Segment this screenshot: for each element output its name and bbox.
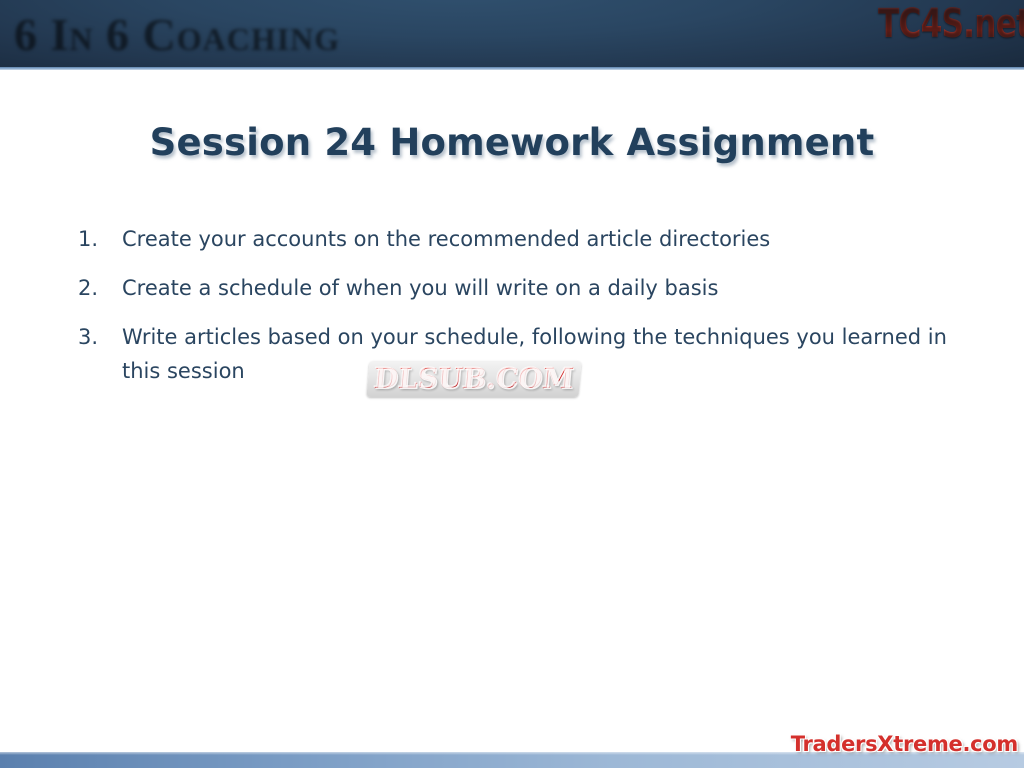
site-logo: TC4S.net — [878, 0, 1024, 50]
slide-title: Session 24 Homework Assignment — [0, 119, 1024, 167]
list-item-number: 1. — [78, 222, 110, 256]
list-item-number: 3. — [78, 320, 110, 354]
list-item-text: Create a schedule of when you will write… — [122, 271, 968, 305]
list-item: 1. Create your accounts on the recommend… — [78, 222, 968, 256]
list-item-text: Create your accounts on the recommended … — [122, 222, 968, 256]
brand-title: 6 In 6 Coaching — [14, 4, 340, 62]
header-underline-divider — [0, 67, 1024, 70]
footer-site-logo: TradersXtreme.com — [791, 731, 1018, 757]
header-banner: 6 In 6 Coaching TC4S.net — [0, 0, 1024, 67]
list-item-number: 2. — [78, 271, 110, 305]
list-item: 2. Create a schedule of when you will wr… — [78, 271, 968, 305]
dlsub-watermark: DLSUB.COM — [366, 361, 581, 397]
slide-canvas: 6 In 6 Coaching TC4S.net Session 24 Home… — [0, 0, 1024, 768]
watermark-text: DLSUB.COM — [373, 363, 575, 394]
